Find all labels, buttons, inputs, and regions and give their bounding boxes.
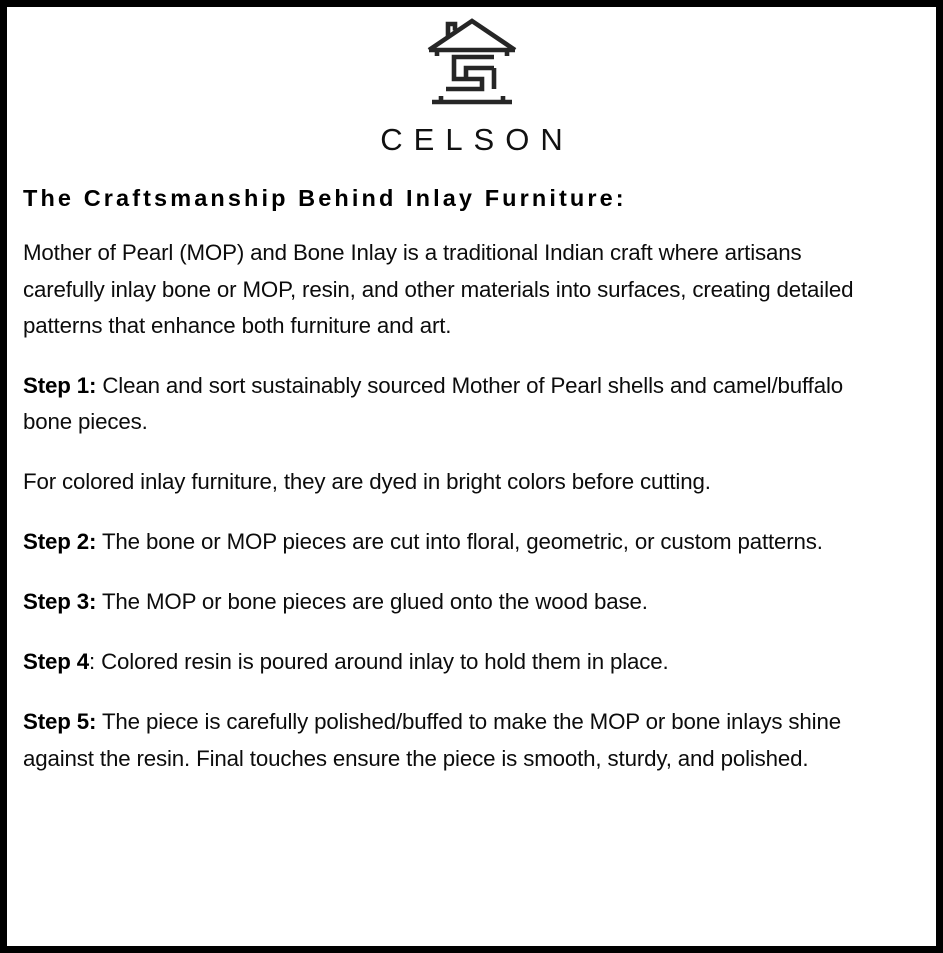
paragraph-step-1: Step 1: Clean and sort sustainably sourc…	[23, 368, 887, 440]
body-copy: Mother of Pearl (MOP) and Bone Inlay is …	[16, 235, 927, 776]
poster-content: CELSON The Craftsmanship Behind Inlay Fu…	[7, 7, 936, 946]
brand-block: CELSON	[16, 12, 927, 157]
step-3-text: The MOP or bone pieces are glued onto th…	[96, 589, 648, 614]
page-title: The Craftsmanship Behind Inlay Furniture…	[16, 184, 927, 213]
house-with-monogram-logo-icon	[420, 16, 524, 116]
paragraph-intro: Mother of Pearl (MOP) and Bone Inlay is …	[23, 235, 887, 343]
step-5-label: Step 5:	[23, 709, 96, 734]
step-1-text: Clean and sort sustainably sourced Mothe…	[23, 373, 843, 434]
brand-name: CELSON	[16, 123, 927, 157]
step-5-text: The piece is carefully polished/buffed t…	[23, 709, 841, 770]
step-2-text: The bone or MOP pieces are cut into flor…	[96, 529, 823, 554]
poster-card: CELSON The Craftsmanship Behind Inlay Fu…	[0, 0, 943, 953]
paragraph-dye-note: For colored inlay furniture, they are dy…	[23, 464, 887, 500]
step-4-label: Step 4	[23, 649, 89, 674]
paragraph-step-5: Step 5: The piece is carefully polished/…	[23, 704, 887, 776]
paragraph-step-3: Step 3: The MOP or bone pieces are glued…	[23, 584, 887, 620]
step-4-text: : Colored resin is poured around inlay t…	[89, 649, 669, 674]
step-3-label: Step 3:	[23, 589, 96, 614]
paragraph-step-4: Step 4: Colored resin is poured around i…	[23, 644, 887, 680]
step-1-label: Step 1:	[23, 373, 96, 398]
paragraph-step-2: Step 2: The bone or MOP pieces are cut i…	[23, 524, 887, 560]
step-2-label: Step 2:	[23, 529, 96, 554]
